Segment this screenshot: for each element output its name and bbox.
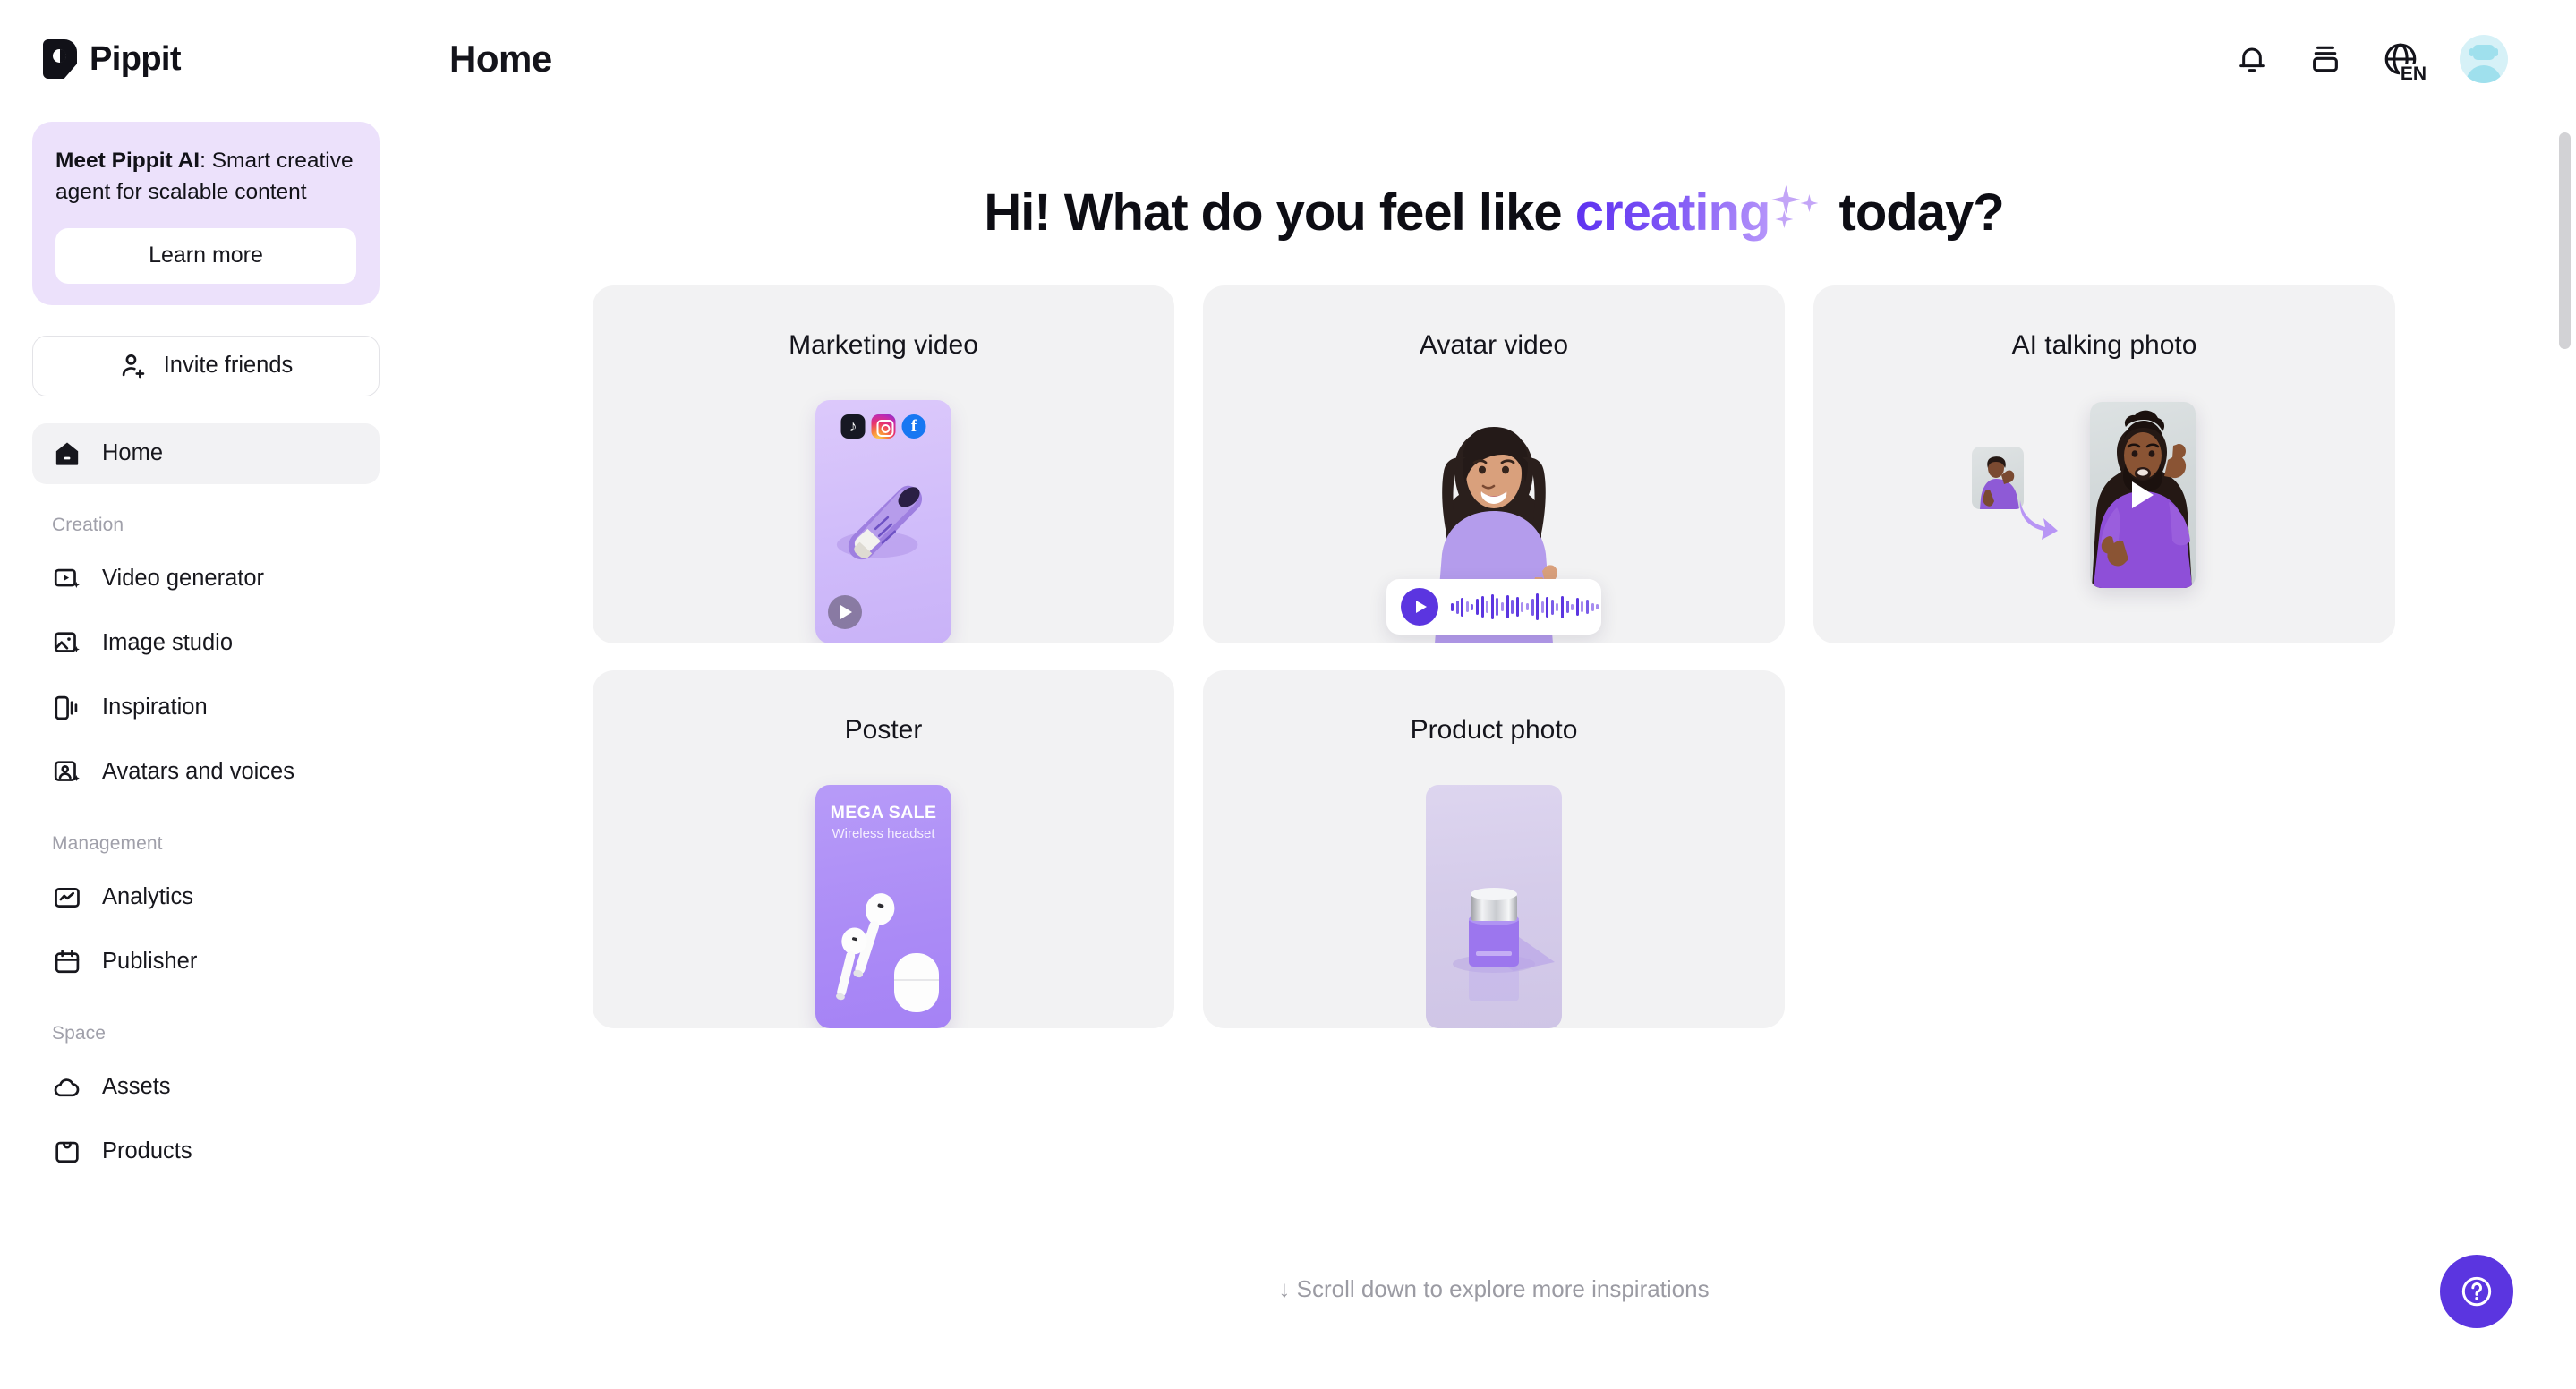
card-avatar-video-title: Avatar video xyxy=(1203,285,1785,361)
play-icon xyxy=(2132,481,2154,508)
card-marketing-video[interactable]: Marketing video xyxy=(593,285,1174,643)
sidebar-item-image-studio[interactable]: Image studio xyxy=(32,613,380,674)
sidebar-item-assets-label: Assets xyxy=(102,1074,171,1100)
sidebar-group-space-label: Space xyxy=(32,1023,380,1044)
sidebar-group-management-label: Management xyxy=(32,833,380,855)
sidebar-item-video-generator-label: Video generator xyxy=(102,566,264,592)
sidebar-group-creation-label: Creation xyxy=(32,515,380,536)
hero-heading: Hi! What do you feel like creating today… xyxy=(412,183,2576,243)
earbuds-image xyxy=(815,864,951,1025)
sidebar-item-products-label: Products xyxy=(102,1138,192,1164)
scrollbar[interactable] xyxy=(2558,0,2571,1389)
ai-talking-photo-thumb xyxy=(1813,386,2395,643)
video-sparkle-icon xyxy=(52,564,82,594)
scrollbar-thumb[interactable] xyxy=(2559,132,2571,349)
sidebar-nav: Home Creation Video generator xyxy=(32,423,380,1182)
scroll-hint: ↓ Scroll down to explore more inspiratio… xyxy=(412,1275,2576,1303)
user-plus-icon xyxy=(119,351,149,381)
poster-preview: MEGA SALE Wireless headset xyxy=(815,785,951,1028)
product-photo-thumb xyxy=(1203,771,1785,1028)
sidebar-item-publisher[interactable]: Publisher xyxy=(32,932,380,993)
promo-card: Meet Pippit AI: Smart creative agent for… xyxy=(32,122,380,305)
card-marketing-video-title: Marketing video xyxy=(593,285,1174,361)
hero-suffix: today? xyxy=(1825,183,2003,242)
card-poster-title: Poster xyxy=(593,670,1174,746)
bag-icon xyxy=(52,1137,82,1167)
brand-name: Pippit xyxy=(90,40,181,79)
product-photo-preview xyxy=(1426,785,1562,1028)
stack-icon[interactable] xyxy=(2307,41,2343,77)
social-icons xyxy=(841,414,926,439)
hero-prefix: Hi! What do you feel like xyxy=(984,183,1574,242)
help-button[interactable] xyxy=(2440,1255,2513,1328)
instagram-icon xyxy=(872,414,896,439)
card-product-photo[interactable]: Product photo xyxy=(1203,670,1785,1028)
home-icon xyxy=(52,439,82,469)
card-ai-talking-photo-title: AI talking photo xyxy=(1813,285,2395,361)
pippit-logo-icon xyxy=(43,39,77,79)
cosmetic-jar-image xyxy=(1426,785,1562,1028)
card-ai-talking-photo[interactable]: AI talking photo xyxy=(1813,285,2395,643)
sidebar-item-publisher-label: Publisher xyxy=(102,949,197,975)
invite-friends-label: Invite friends xyxy=(164,353,294,379)
main-content: Home EN xyxy=(412,0,2576,1389)
waveform xyxy=(1451,592,1599,622)
analytics-icon xyxy=(52,882,82,913)
avatar-video-preview xyxy=(1360,391,1628,643)
invite-friends-button[interactable]: Invite friends xyxy=(32,336,380,396)
avatar-video-thumb xyxy=(1203,386,1785,643)
app-root: Pippit Meet Pippit AI: Smart creative ag… xyxy=(0,0,2576,1389)
sidebar-item-products[interactable]: Products xyxy=(32,1121,380,1182)
image-sparkle-icon xyxy=(52,628,82,659)
audio-player[interactable] xyxy=(1386,579,1601,635)
inspiration-icon xyxy=(52,693,82,723)
creation-cards-grid: Marketing video xyxy=(412,285,2576,1028)
language-switcher[interactable]: EN xyxy=(2381,39,2422,79)
language-code: EN xyxy=(2400,64,2427,83)
question-icon xyxy=(2458,1273,2495,1310)
cloud-icon xyxy=(52,1072,82,1103)
poster-thumb: MEGA SALE Wireless headset xyxy=(593,771,1174,1028)
sidebar-item-inspiration[interactable]: Inspiration xyxy=(32,677,380,738)
sidebar-item-avatars-and-voices-label: Avatars and voices xyxy=(102,759,294,785)
card-poster[interactable]: Poster MEGA SALE Wireless headset xyxy=(593,670,1174,1028)
learn-more-button[interactable]: Learn more xyxy=(55,228,356,284)
result-video-preview xyxy=(2090,402,2196,588)
page-title: Home xyxy=(449,38,552,81)
sidebar: Pippit Meet Pippit AI: Smart creative ag… xyxy=(0,0,412,1389)
sidebar-item-home-label: Home xyxy=(102,440,163,466)
play-icon xyxy=(828,595,862,629)
sidebar-item-home[interactable]: Home xyxy=(32,423,380,484)
sparkle-icon xyxy=(1770,198,1825,234)
top-bar: Home EN xyxy=(412,0,2576,118)
sidebar-item-analytics[interactable]: Analytics xyxy=(32,867,380,928)
avatar[interactable] xyxy=(2460,35,2508,83)
card-avatar-video[interactable]: Avatar video xyxy=(1203,285,1785,643)
avatar-sparkle-icon xyxy=(52,757,82,788)
tiktok-icon xyxy=(841,414,866,439)
marketing-video-preview xyxy=(815,400,951,643)
poster-subhead: Wireless headset xyxy=(815,826,951,841)
top-bar-actions: EN xyxy=(2234,35,2508,83)
poster-headline: MEGA SALE xyxy=(815,803,951,823)
promo-title: Meet Pippit AI: Smart creative agent for… xyxy=(55,145,356,209)
sneaker-image xyxy=(832,470,937,570)
play-icon[interactable] xyxy=(1401,588,1438,626)
bell-icon[interactable] xyxy=(2234,41,2270,77)
sidebar-item-image-studio-label: Image studio xyxy=(102,630,233,656)
sidebar-item-video-generator[interactable]: Video generator xyxy=(32,549,380,609)
sidebar-item-inspiration-label: Inspiration xyxy=(102,694,208,720)
ai-talking-photo-preview xyxy=(1961,391,2248,643)
transform-arrow-icon xyxy=(2015,497,2063,540)
calendar-icon xyxy=(52,947,82,977)
marketing-video-thumb xyxy=(593,386,1174,643)
brand-logo[interactable]: Pippit xyxy=(32,0,380,118)
sidebar-item-analytics-label: Analytics xyxy=(102,884,193,910)
hero-accent-word: creating xyxy=(1575,183,1770,242)
sidebar-item-avatars-and-voices[interactable]: Avatars and voices xyxy=(32,742,380,803)
sidebar-item-assets[interactable]: Assets xyxy=(32,1057,380,1118)
promo-title-bold: Meet Pippit AI xyxy=(55,149,200,173)
card-product-photo-title: Product photo xyxy=(1203,670,1785,746)
facebook-icon xyxy=(902,414,926,439)
